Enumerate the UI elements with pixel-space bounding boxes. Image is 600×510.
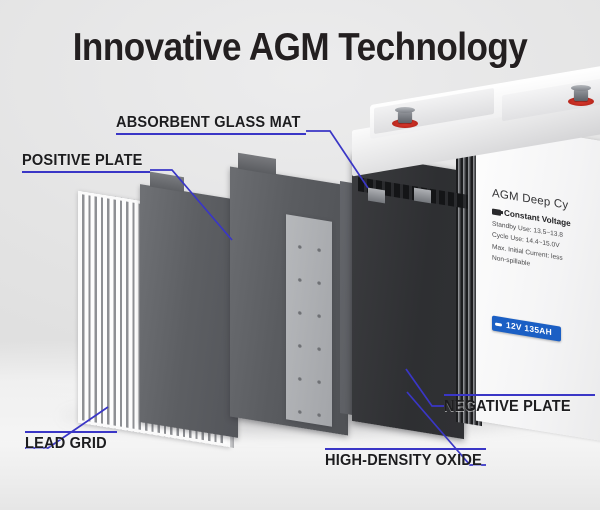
callout-high-density-oxide: HIGH-DENSITY OXIDE [325,448,492,470]
callout-label: POSITIVE PLATE [22,152,143,170]
leader-negative-plate [406,369,444,406]
leader-absorbent-glass-mat [306,131,368,188]
callout-label: ABSORBENT GLASS MAT [116,114,301,132]
callout-label: NEGATIVE PLATE [444,398,586,416]
callout-label: LEAD GRID [25,435,111,453]
callout-absorbent-glass-mat: ABSORBENT GLASS MAT [116,114,312,135]
callout-underline [444,394,595,396]
callout-negative-plate: NEGATIVE PLATE [444,394,595,416]
callout-positive-plate: POSITIVE PLATE [22,152,150,173]
callout-lead-grid: LEAD GRID [25,431,117,453]
infographic-canvas: Innovative AGM Technology [0,0,600,510]
callout-underline [325,448,486,450]
callout-label: HIGH-DENSITY OXIDE [325,452,482,470]
leader-positive-plate [150,170,232,240]
callout-underline [22,171,150,173]
callout-underline [25,431,117,433]
callout-underline [116,133,306,135]
